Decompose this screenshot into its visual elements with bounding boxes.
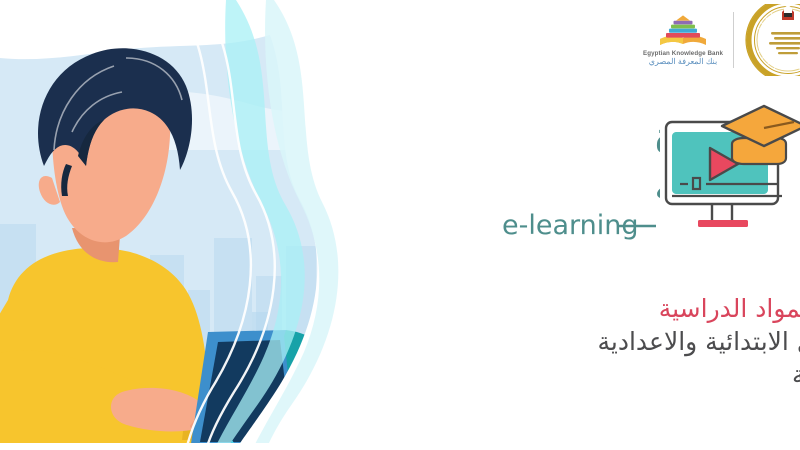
video-monitor-play-icon (660, 96, 800, 236)
bottom-white-strip (0, 443, 400, 450)
headline-block: جميع المواد الدراسية لمراحل الابتدائية و… (314, 292, 800, 391)
ekb-logo-text: Egyptian Knowledge Bank بنك المعرفة المص… (643, 51, 723, 68)
brand-lockup: المذاكرة الرقمية e-learning (488, 96, 800, 246)
headline-line-1: جميع المواد الدراسية (314, 292, 800, 325)
stand-base (698, 220, 748, 227)
stacked-books-icon (654, 13, 712, 49)
ministry-of-education-emblem[interactable] (744, 4, 800, 76)
headline-line-2: لمراحل الابتدائية والاعدادية (314, 325, 800, 358)
ekb-name-en: Egyptian Knowledge Bank (643, 51, 723, 58)
brand-wordmark: المذاكرة الرقمية e-learning (488, 96, 660, 246)
egyptian-knowledge-bank-logo[interactable]: Egyptian Knowledge Bank بنك المعرفة المص… (637, 13, 729, 68)
header-logo-row: Egyptian Knowledge Bank بنك المعرفة المص… (637, 0, 800, 80)
ministry-of-education-seal-icon (744, 4, 800, 76)
elearning-promo-banner: Egyptian Knowledge Bank بنك المعرفة المص… (0, 0, 800, 450)
ekb-name-ar: بنك المعرفة المصري (643, 58, 723, 67)
logo-divider (733, 12, 734, 68)
headline-line-3: والثانوية (314, 358, 800, 391)
